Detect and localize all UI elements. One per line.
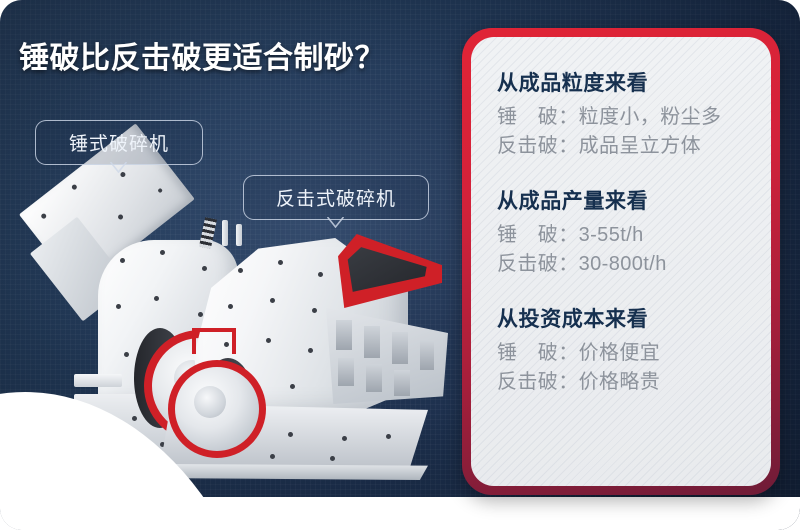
impact-crusher-image (150, 212, 460, 512)
impact-red-marker-h (192, 328, 236, 332)
section-heading: 从投资成本来看 (497, 303, 771, 333)
callout-tail-icon (327, 217, 344, 228)
impact-crusher-label: 反击式破碎机 (276, 184, 396, 211)
page-title: 锤破比反击破更适合制砂？ (19, 33, 449, 77)
poster-card: 锤破比反击破更适合制砂？ 锤式破碎机 反击式破碎机 从成品粒度来看 (0, 0, 800, 530)
hammer-crusher-label: 锤式破碎机 (69, 129, 169, 156)
hammer-crusher-callout[interactable]: 锤式破碎机 (35, 120, 203, 165)
comparison-panel-face: 从成品粒度来看 锤 破：粒度小，粉尘多 反击破：成品呈立方体 从成品产量来看 锤… (471, 37, 771, 486)
poster: 锤破比反击破更适合制砂？ 锤式破碎机 反击式破碎机 从成品粒度来看 (0, 0, 800, 530)
comparison-panel: 从成品粒度来看 锤 破：粒度小，粉尘多 反击破：成品呈立方体 从成品产量来看 锤… (462, 28, 780, 495)
impact-foot (156, 464, 428, 480)
hammer-ledge (74, 374, 122, 387)
section-line-impact: 反击破：30-800t/h (497, 250, 771, 278)
comparison-section: 从成品产量来看 锤 破：3-55t/h 反击破：30-800t/h (497, 185, 771, 279)
section-heading: 从成品产量来看 (497, 185, 771, 215)
impact-tension-rod-a (222, 220, 228, 246)
bottom-white-band (0, 497, 800, 530)
impact-spring-rod (199, 217, 217, 249)
section-line-impact: 反击破：成品呈立方体 (497, 132, 771, 160)
impact-red-marker-v1 (192, 328, 196, 354)
section-line-hammer: 锤 破：3-55t/h (497, 221, 771, 249)
impact-crusher-callout[interactable]: 反击式破碎机 (243, 175, 429, 220)
impact-red-marker-v2 (232, 332, 236, 354)
section-line-impact: 反击破：价格略贵 (497, 368, 771, 396)
comparison-section: 从投资成本来看 锤 破：价格便宜 反击破：价格略贵 (497, 303, 771, 397)
section-line-hammer: 锤 破：粒度小，粉尘多 (497, 103, 771, 131)
callout-tail-icon (110, 162, 127, 173)
impact-discharge-ribs (326, 308, 448, 404)
comparison-section: 从成品粒度来看 锤 破：粒度小，粉尘多 反击破：成品呈立方体 (497, 67, 771, 161)
section-heading: 从成品粒度来看 (497, 67, 771, 97)
impact-tension-rod-b (236, 224, 242, 246)
impact-flywheel-hub (194, 386, 226, 418)
section-line-hammer: 锤 破：价格便宜 (497, 339, 771, 367)
